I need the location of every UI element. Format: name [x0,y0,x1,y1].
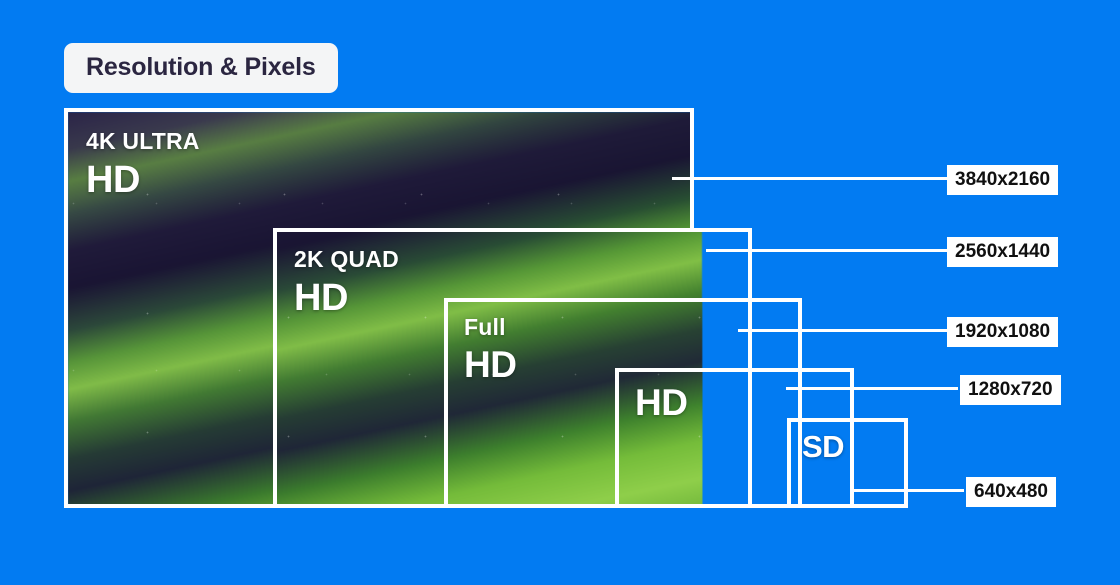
resolution-label-fullhd: 1920x1080 [947,317,1058,347]
resolution-label-hd: 1280x720 [960,375,1061,405]
screen-sd-label-line2: SD [802,431,844,462]
infographic-canvas: Resolution & Pixels 4K ULTRA HD 2K QUAD … [0,0,1120,585]
screen-2k-label-line1: 2K QUAD [294,248,399,271]
screen-sd-caption: SD [802,431,844,462]
screen-4k-label-line1: 4K ULTRA [86,130,200,153]
leader-line-2k [706,249,950,252]
screen-4k-caption: 4K ULTRA HD [86,130,200,199]
resolution-label-4k: 3840x2160 [947,165,1058,195]
screen-fullhd-label-line1: Full [464,316,516,339]
leader-line-fullhd [738,329,950,332]
leader-line-sd [852,489,964,492]
resolution-label-sd: 640x480 [966,477,1056,507]
leader-line-4k [672,177,950,180]
screen-sd: SD [787,418,908,508]
screen-2k-label-line2: HD [294,279,399,317]
screen-hd-label-line2: HD [635,384,687,421]
screen-fullhd-caption: Full HD [464,316,516,383]
screen-4k-label-line2: HD [86,161,200,199]
screen-fullhd-label-line2: HD [464,346,516,383]
resolution-label-2k: 2560x1440 [947,237,1058,267]
leader-line-hd [786,387,958,390]
screen-hd-caption: HD [635,384,687,421]
screen-2k-caption: 2K QUAD HD [294,248,399,317]
page-title: Resolution & Pixels [64,43,338,93]
